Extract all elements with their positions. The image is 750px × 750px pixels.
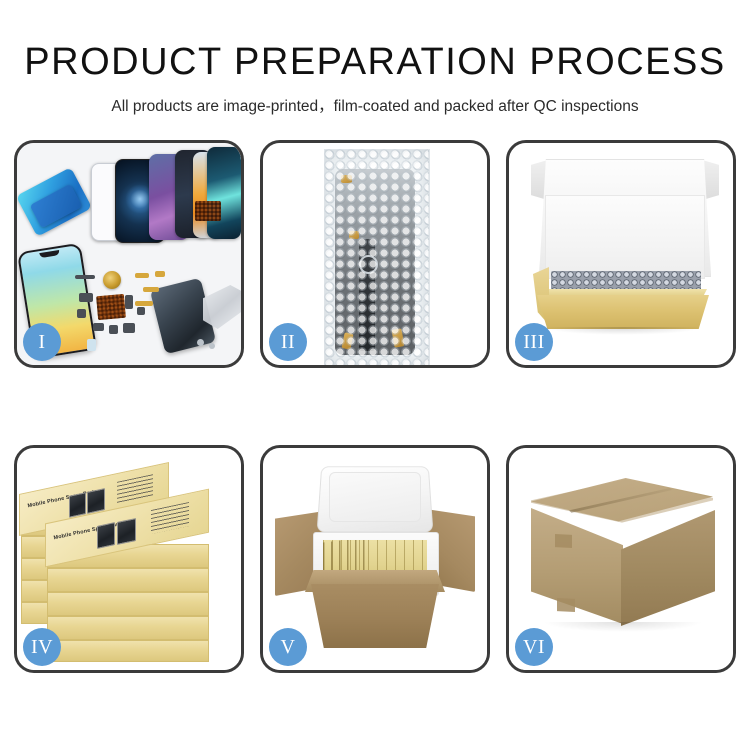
- gold-tab-icon: [341, 175, 352, 183]
- small-part-icon: [75, 275, 95, 279]
- lcd-screen-teal-icon: [207, 147, 241, 239]
- small-part-icon: [77, 309, 86, 318]
- box-lid-window: [69, 492, 86, 518]
- header: PRODUCT PREPARATION PROCESS All products…: [0, 0, 750, 116]
- carton-tape-patch-icon: [555, 534, 572, 548]
- drop-shadow: [543, 622, 703, 632]
- carton-tape-patch-icon: [557, 598, 575, 612]
- stacked-box: [47, 640, 209, 662]
- home-button-ring-icon: [359, 255, 378, 274]
- stacked-boxes-illustration: Mobile Phone Spare Parts Mobile Phone Sp…: [17, 448, 241, 670]
- step-badge-6: VI: [515, 628, 553, 666]
- process-step-panel-2: II: [260, 140, 490, 368]
- small-part-icon: [123, 323, 135, 333]
- stacked-box: [47, 592, 209, 616]
- page-title: PRODUCT PREPARATION PROCESS: [0, 0, 750, 84]
- box-lid-window: [87, 488, 105, 514]
- carton-packing-illustration: V: [263, 448, 487, 670]
- box-front-icon: [537, 295, 709, 329]
- step-badge-2: II: [269, 323, 307, 361]
- process-step-panel-3: III: [506, 140, 736, 368]
- process-step-panel-6: VI: [506, 445, 736, 673]
- step-badge-4: IV: [23, 628, 61, 666]
- gold-connector-icon: [143, 287, 159, 292]
- process-step-panel-1: I: [14, 140, 244, 368]
- styrofoam-lid-inner-icon: [329, 472, 421, 522]
- small-part-icon: [125, 295, 133, 309]
- foam-pad-icon: [545, 195, 705, 279]
- screw-icon: [197, 339, 204, 346]
- small-part-icon: [137, 307, 145, 315]
- gold-connector-icon: [135, 301, 153, 306]
- chip-array-icon: [96, 294, 126, 320]
- box-lid-window: [117, 518, 136, 545]
- step-badge-1: I: [23, 323, 61, 361]
- process-step-panel-5: V: [260, 445, 490, 673]
- page-subtitle: All products are image-printed，film-coat…: [0, 84, 750, 116]
- small-part-icon: [93, 323, 104, 331]
- process-step-grid: I II: [14, 140, 736, 680]
- speaker-coil-icon: [103, 271, 121, 289]
- inner-box-illustration: III: [509, 143, 733, 365]
- step-badge-5: V: [269, 628, 307, 666]
- small-part-icon: [79, 293, 93, 302]
- process-step-panel-4: Mobile Phone Spare Parts Mobile Phone Sp…: [14, 445, 244, 673]
- step-badge-3: III: [515, 323, 553, 361]
- small-part-icon: [87, 339, 96, 351]
- small-part-icon: [109, 325, 118, 334]
- screw-icon: [209, 343, 215, 349]
- bubble-wrap-illustration: II: [263, 143, 487, 365]
- phone-parts-illustration: I: [17, 143, 241, 365]
- product-preparation-process-page: PRODUCT PREPARATION PROCESS All products…: [0, 0, 750, 750]
- drop-shadow: [543, 327, 703, 335]
- carton-front-icon: [311, 584, 439, 648]
- box-lid-window: [97, 522, 115, 549]
- chip-array-secondary-icon: [195, 201, 221, 221]
- gold-tab-icon: [349, 231, 359, 239]
- sealed-carton-illustration: VI: [509, 448, 733, 670]
- gold-connector-icon: [135, 273, 149, 278]
- stacked-box: [47, 616, 209, 640]
- gold-connector-icon: [155, 271, 165, 277]
- stacked-box: [47, 568, 209, 592]
